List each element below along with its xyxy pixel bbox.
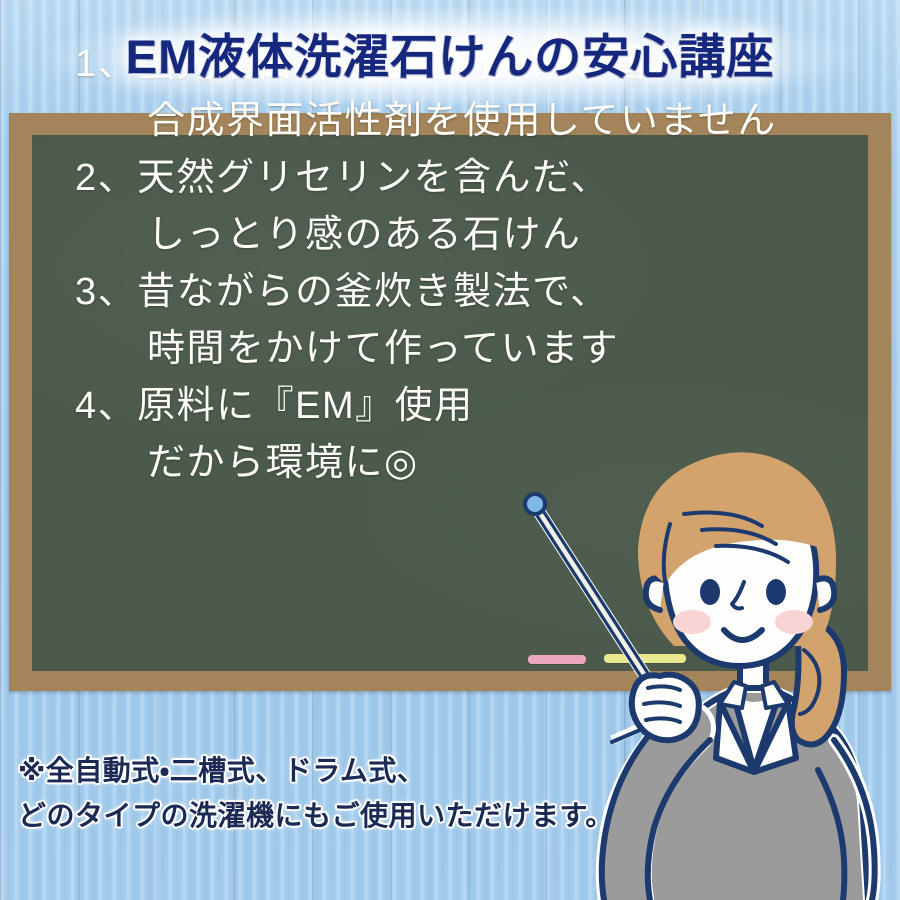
footer-line-2: どのタイプの洗濯機にもご使用いただけます。 <box>18 793 578 838</box>
board-line-3: 2、天然グリセリンを含んだ、 <box>75 150 880 207</box>
yellow-chalk-icon <box>604 654 686 663</box>
footer-note: ※全自動式・二槽式、ドラム式、 どのタイプの洗濯機にもご使用いただけます。 <box>18 748 578 838</box>
page-title: EM液体洗濯石けんの安心講座 <box>126 33 775 80</box>
board-line-8: だから環境に◎ <box>75 435 880 492</box>
title-banner: EM液体洗濯石けんの安心講座 <box>0 0 900 112</box>
board-line-6: 時間をかけて作っています <box>75 321 880 378</box>
board-line-5: 3、昔ながらの釜炊き製法で、 <box>75 264 880 321</box>
pink-chalk-icon <box>528 655 586 664</box>
footer-line-1: ※全自動式・二槽式、ドラム式、 <box>18 748 578 793</box>
poster-canvas: EM液体洗濯石けんの安心講座 1、蛍光増白剤、酸化防止剤、香料、 合成界面活性剤… <box>0 0 900 900</box>
board-line-7: 4、原料に『EM』使用 <box>75 378 880 435</box>
board-line-4: しっとり感のある石けん <box>75 207 880 264</box>
